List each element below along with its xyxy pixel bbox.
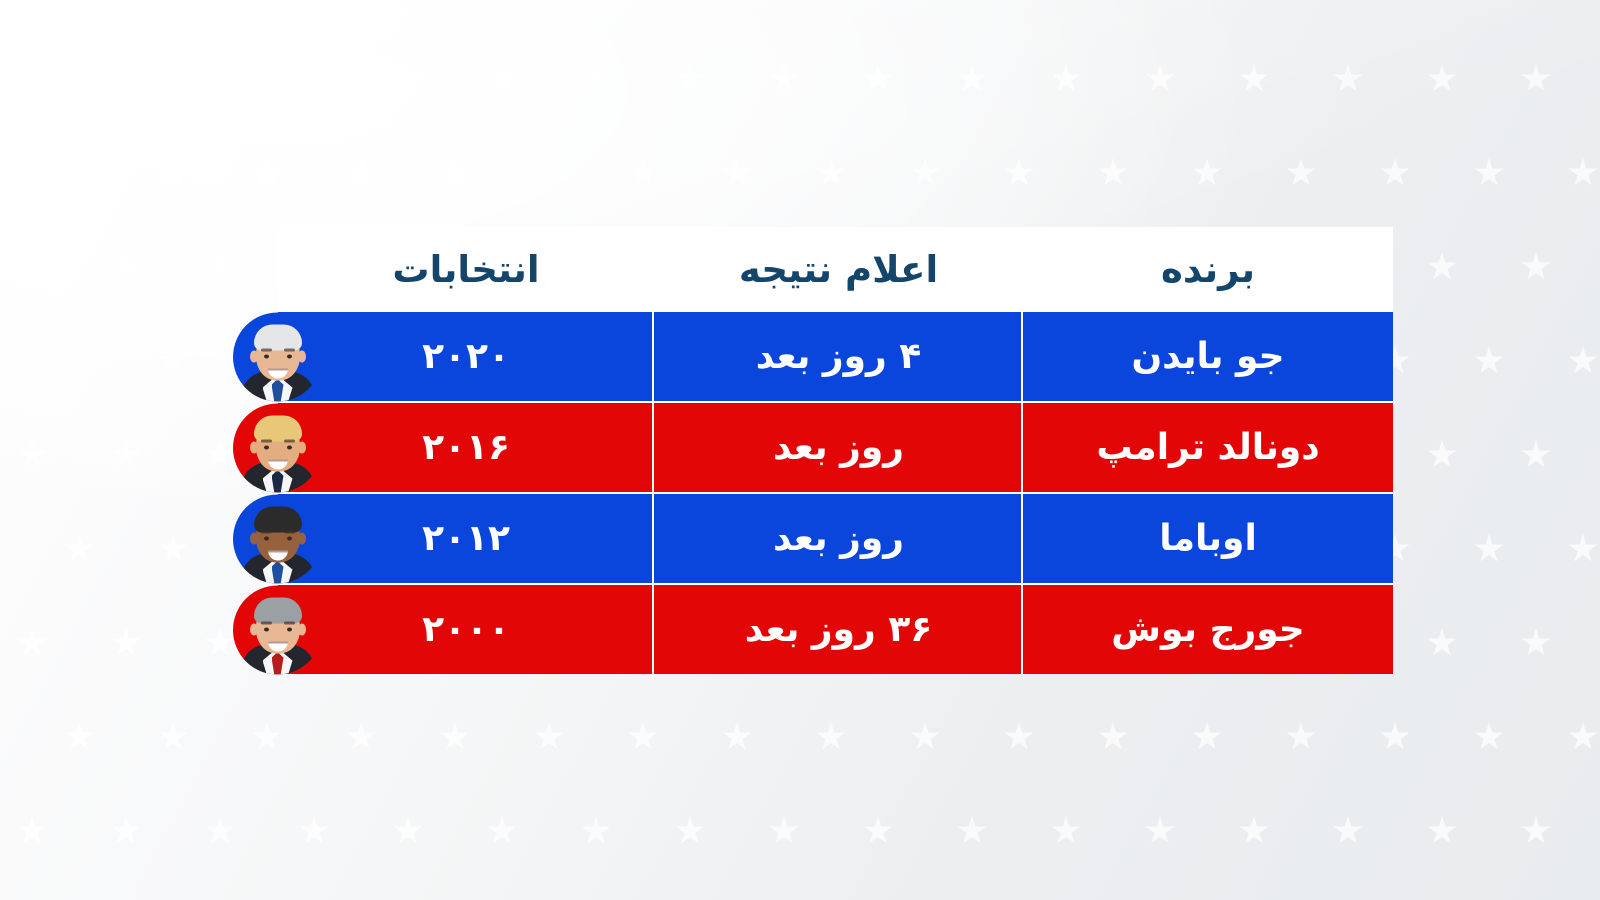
column-header-result: اعلام نتیجه [654,227,1023,312]
star-icon [17,440,47,470]
star-icon [1380,158,1410,188]
star-icon [581,816,611,846]
star-icon [440,158,470,188]
star-icon [1474,158,1504,188]
star-icon [534,158,564,188]
star-icon [1286,158,1316,188]
star-icon [205,440,235,470]
star-icon [957,64,987,94]
star-icon [393,64,423,94]
star-icon [1568,722,1598,752]
election-results-table: برنده اعلام نتیجه انتخابات [278,227,1393,674]
star-icon [1427,440,1457,470]
cell-election-year: ۲۰۰۰ [278,585,654,674]
table-row: دونالد ترامپ روز بعد ۲۰۱۶ [278,403,1393,494]
cell-result: ۴ روز بعد [654,312,1023,401]
star-icon [64,158,94,188]
star-icon [346,158,376,188]
star-icon [1380,722,1410,752]
star-icon [205,628,235,658]
star-icon [675,64,705,94]
star-icon [581,64,611,94]
star-icon [299,816,329,846]
cell-election-year: ۲۰۱۲ [278,494,654,583]
star-icon [769,64,799,94]
star-icon [205,252,235,282]
star-icon [17,816,47,846]
cell-winner: جو بایدن [1023,312,1393,401]
star-icon [1004,722,1034,752]
star-icon [299,64,329,94]
star-icon [158,722,188,752]
star-icon [1145,816,1175,846]
star-icon [1427,816,1457,846]
cell-result: ۳۶ روز بعد [654,585,1023,674]
star-icon [111,252,141,282]
star-icon [722,158,752,188]
star-icon [158,346,188,376]
cell-winner: جورج بوش [1023,585,1393,674]
star-icon [1568,534,1598,564]
star-icon [1051,64,1081,94]
star-icon [863,816,893,846]
star-icon [816,722,846,752]
cell-winner: اوباما [1023,494,1393,583]
star-icon [1474,534,1504,564]
star-icon [1427,252,1457,282]
star-icon [1521,64,1551,94]
avatar-donald-trump [233,403,322,492]
cell-winner: دونالد ترامپ [1023,403,1393,492]
star-icon [487,816,517,846]
star-icon [1239,64,1269,94]
star-icon [534,722,564,752]
star-icon [863,64,893,94]
star-icon [1474,722,1504,752]
star-icon [957,816,987,846]
star-icon [111,64,141,94]
star-icon [205,816,235,846]
star-icon [628,158,658,188]
star-icon [487,64,517,94]
star-icon [1192,722,1222,752]
avatar-george-bush [233,585,322,674]
star-icon [1474,346,1504,376]
avatar-joe-biden [233,312,322,401]
star-icon [675,816,705,846]
star-icon [111,440,141,470]
table-body: جو بایدن ۴ روز بعد ۲۰۲۰ [278,312,1393,674]
star-icon [1427,628,1457,658]
star-icon [1333,64,1363,94]
column-header-winner: برنده [1023,227,1393,312]
star-icon [1333,816,1363,846]
cell-result: روز بعد [654,494,1023,583]
cell-election-year: ۲۰۲۰ [278,312,654,401]
star-icon [252,722,282,752]
star-icon [1568,158,1598,188]
star-icon [111,628,141,658]
star-icon [1239,816,1269,846]
star-icon [1521,816,1551,846]
star-icon [205,64,235,94]
star-icon [346,722,376,752]
table-header-row: برنده اعلام نتیجه انتخابات [278,227,1393,312]
star-icon [910,722,940,752]
cell-result: روز بعد [654,403,1023,492]
star-icon [816,158,846,188]
star-icon [1521,440,1551,470]
table-row: جورج بوش ۳۶ روز بعد ۲۰۰۰ [278,585,1393,674]
star-icon [158,158,188,188]
star-icon [17,628,47,658]
star-icon [17,252,47,282]
star-icon [64,722,94,752]
cell-election-year: ۲۰۱۶ [278,403,654,492]
table-row: اوباما روز بعد ۲۰۱۲ [278,494,1393,585]
star-icon [1568,346,1598,376]
star-icon [64,534,94,564]
star-icon [1427,64,1457,94]
star-icon [722,722,752,752]
star-icon [628,722,658,752]
star-icon [393,816,423,846]
star-icon [1192,158,1222,188]
star-icon [1098,722,1128,752]
star-icon [1145,64,1175,94]
table-row: جو بایدن ۴ روز بعد ۲۰۲۰ [278,312,1393,403]
star-icon [17,64,47,94]
star-icon [910,158,940,188]
star-icon [252,158,282,188]
star-icon [1286,722,1316,752]
star-icon [1098,158,1128,188]
star-icon [158,534,188,564]
star-icon [1521,252,1551,282]
slide-canvas: برنده اعلام نتیجه انتخابات [0,0,1600,900]
star-icon [1004,158,1034,188]
star-icon [769,816,799,846]
column-header-election: انتخابات [278,227,654,312]
star-icon [440,722,470,752]
avatar-barack-obama [233,494,322,583]
star-icon [1521,628,1551,658]
star-icon [64,346,94,376]
star-icon [1051,816,1081,846]
star-icon [111,816,141,846]
